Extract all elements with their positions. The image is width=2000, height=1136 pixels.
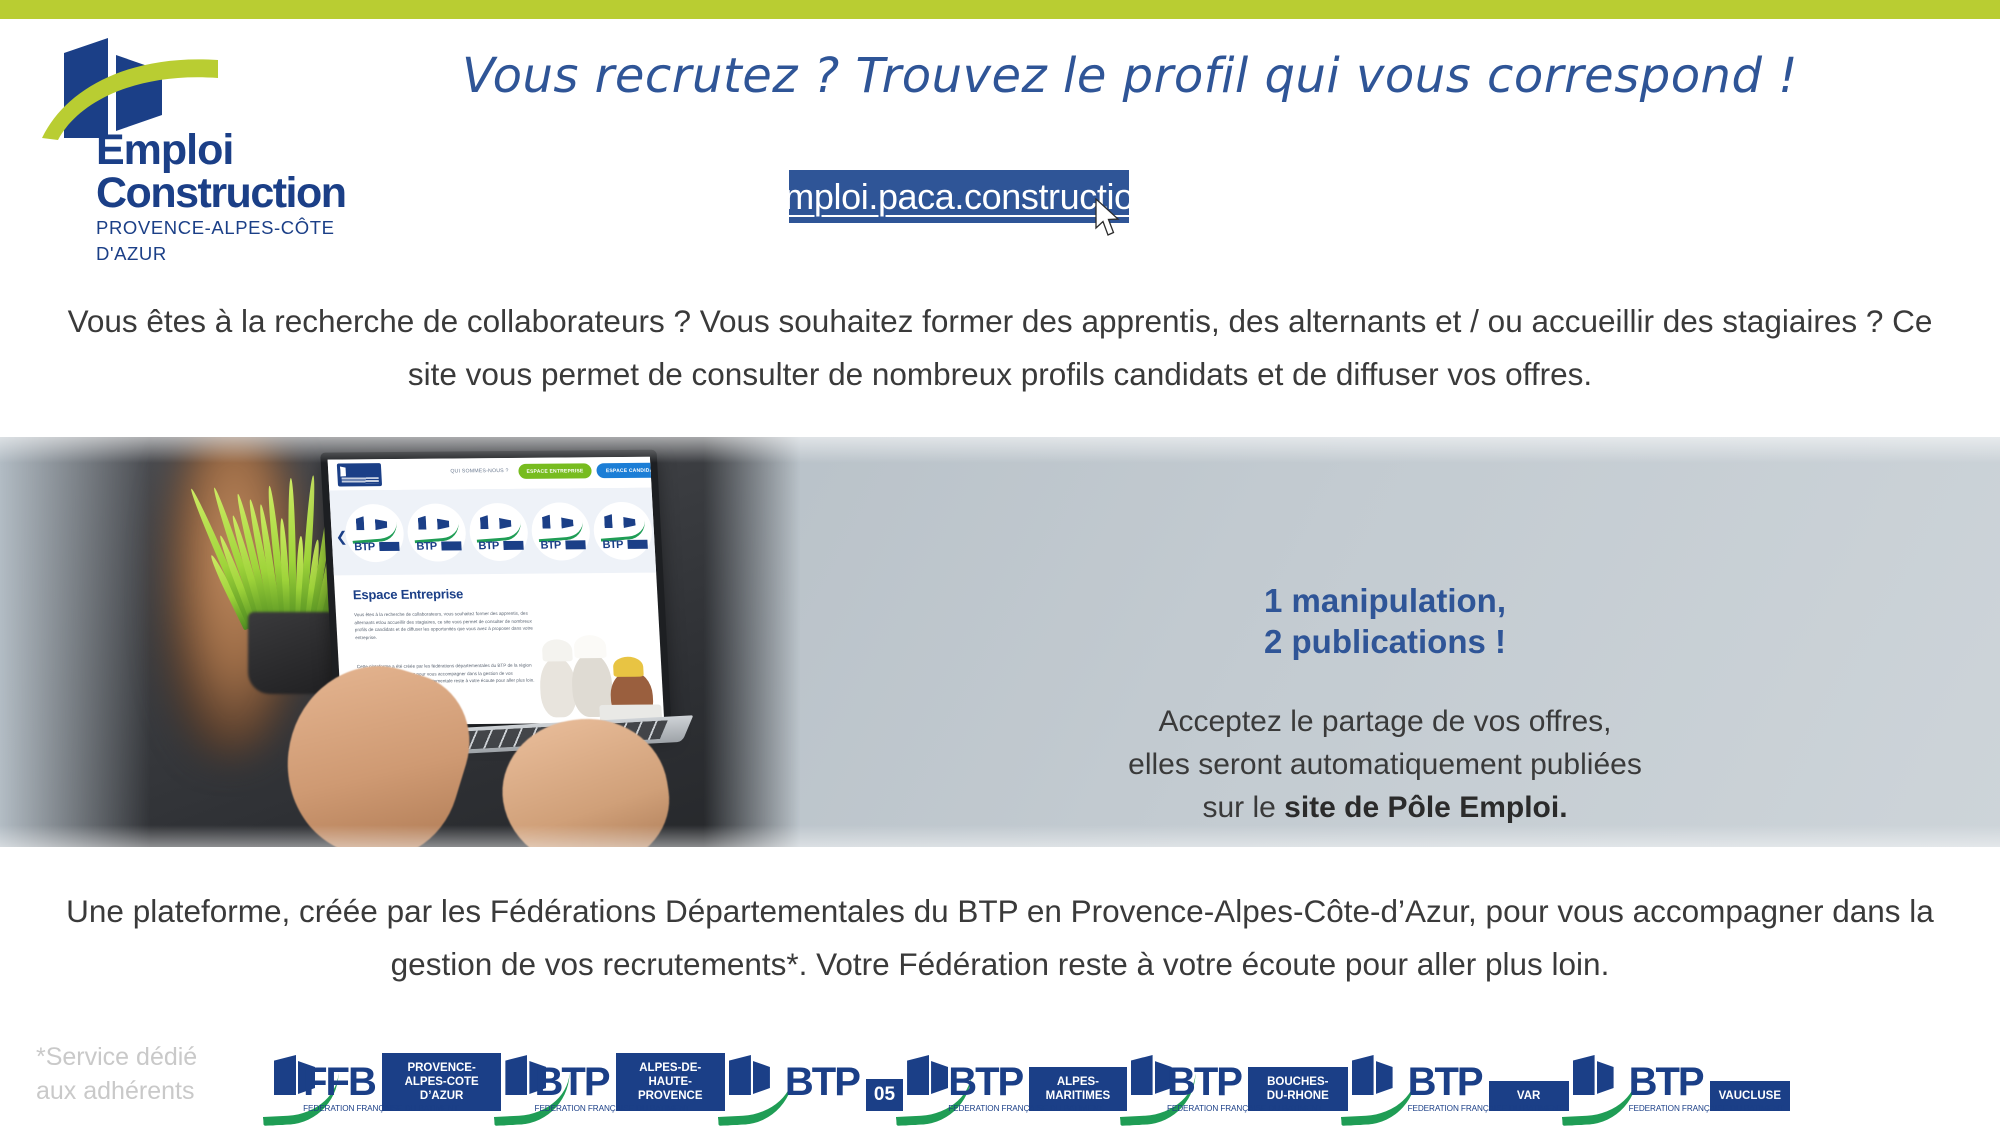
- plant-blade: [217, 534, 260, 630]
- federation-logo-subtitle: FEDERATION FRANÇAISE DU BATIMENT: [948, 1104, 1103, 1113]
- screen-paragraph-1: Vous êtes à la recherche de collaborateu…: [354, 610, 536, 642]
- screen-heading: Espace Entreprise: [353, 586, 464, 602]
- federation-logo-word: BTP: [1167, 1065, 1241, 1099]
- desk-background: [0, 437, 800, 847]
- mouse-pointer-icon: [1095, 198, 1121, 236]
- body-line-3-prefix: sur le: [1202, 791, 1284, 824]
- btp-building-swoosh-icon: [1348, 1049, 1406, 1111]
- carousel-logo-item[interactable]: BTP: [344, 504, 405, 562]
- laptop-lid: QUI SOMMES-NOUS ? ESPACE ENTREPRISE ESPA…: [320, 450, 672, 736]
- plant-blade: [322, 509, 364, 630]
- plant-blade: [341, 495, 413, 630]
- plant-blade: [208, 554, 250, 631]
- potted-plant-leaves: [236, 469, 352, 629]
- federation-logo-subtitle: FEDERATION FRANÇAISE DU BATIMENT: [303, 1104, 458, 1113]
- plant-blade: [230, 515, 269, 630]
- plant-blade: [308, 478, 339, 629]
- carousel-next-icon[interactable]: ❯: [638, 526, 651, 543]
- brand-name-line2: Construction: [96, 171, 396, 215]
- laptop-keyboard: [350, 720, 667, 755]
- federation-logo: BTPFEDERATION FRANÇAISE DU BATIMENTBOUCH…: [1127, 1039, 1348, 1111]
- plant-blade: [299, 475, 317, 629]
- screen-people-photo: [511, 631, 664, 724]
- service-note: *Service dédié aux adhérents: [36, 1040, 266, 1108]
- service-note-line1: *Service dédié: [36, 1040, 266, 1074]
- outro-paragraph: Une plateforme, créée par les Fédération…: [40, 885, 1960, 991]
- federation-logo: BTPFEDERATION FRANÇAISE DU BATIMENTVAR: [1348, 1039, 1569, 1111]
- federation-logo-subtitle: FEDERATION FRANÇAISE DU BATIMENT: [1629, 1104, 1784, 1113]
- plant-blade: [304, 539, 321, 629]
- federation-logo-region-tag: PROVENCE-ALPES-COTE D’AZUR: [382, 1053, 501, 1111]
- body-line-3: sur le site de Pôle Emploi.: [1010, 786, 1760, 829]
- screen-logo-carousel[interactable]: ❮ ❯ BTPBTPBTPBTPBTP: [329, 488, 656, 576]
- plant-blade: [336, 518, 391, 631]
- body-line-3-bold: site de Pôle Emploi.: [1284, 791, 1567, 824]
- btp-building-swoosh-icon: [1127, 1049, 1165, 1111]
- screen-btn-espace-candidat[interactable]: ESPACE CANDIDAT: [596, 463, 664, 479]
- page-headline: Vous recrutez ? Trouvez le profil qui vo…: [420, 48, 1840, 104]
- plant-blade: [266, 486, 288, 630]
- carousel-prev-icon[interactable]: ❮: [335, 528, 348, 545]
- plant-blade: [246, 498, 278, 629]
- blurred-person: [165, 437, 305, 757]
- screen-brand-logo-icon: [337, 463, 382, 486]
- plant-blade: [235, 493, 274, 630]
- federation-logo: BTP05: [725, 1039, 903, 1111]
- carousel-logo-item[interactable]: BTP: [406, 503, 467, 561]
- plant-pot: [248, 612, 334, 694]
- federation-logo-word: BTP: [535, 1065, 609, 1099]
- federation-logo-subtitle: FEDERATION FRANÇAISE DU BATIMENT: [1167, 1104, 1322, 1113]
- btp-building-swoosh-icon: [270, 1049, 301, 1111]
- federation-logo-subtitle: FEDERATION FRANÇAISE DU BATIMENT: [1408, 1104, 1563, 1113]
- federation-logo-word: BTP: [1408, 1065, 1482, 1099]
- highlight-line-1: 1 manipulation,: [1010, 580, 1760, 621]
- le-plus-highlight: 1 manipulation, 2 publications !: [1010, 580, 1760, 662]
- btp-building-swoosh-icon: [903, 1049, 946, 1111]
- plant-blade: [318, 487, 360, 630]
- screen-paragraph-2: Cette plateforme a été créée par les féd…: [357, 662, 538, 686]
- plant-blade: [327, 501, 377, 630]
- plant-blade: [313, 523, 341, 630]
- brand-region: PROVENCE-ALPES-CÔTE D'AZUR: [96, 215, 396, 267]
- btp-building-swoosh-icon: [725, 1049, 783, 1111]
- federation-logo-region-tag: ALPES-DE-HAUTE-PROVENCE: [616, 1053, 725, 1111]
- le-plus-body: Acceptez le partage de vos offres, elles…: [1010, 700, 1760, 829]
- btp-building-swoosh-icon: [1569, 1049, 1627, 1111]
- plant-blade: [211, 487, 265, 630]
- brand-name-line1: Emploi: [96, 130, 396, 171]
- plant-blade: [295, 536, 304, 629]
- federation-logo-word: BTP: [1629, 1065, 1703, 1099]
- screen-nav-link[interactable]: QUI SOMMES-NOUS ?: [450, 468, 509, 474]
- plant-blade: [188, 487, 256, 630]
- body-line-2: elles seront automatiquement publiées: [1010, 743, 1760, 786]
- brand-logo: Emploi Construction PROVENCE-ALPES-CÔTE …: [18, 30, 388, 220]
- intro-paragraph: Vous êtes à la recherche de collaborateu…: [40, 295, 1960, 401]
- carousel-logo-item[interactable]: BTP: [530, 502, 591, 560]
- federation-logo-subtitle: FEDERATION FRANÇAISE DU BATIMENT: [535, 1104, 690, 1113]
- laptop-base: [333, 715, 694, 761]
- plant-blade: [332, 500, 389, 631]
- federation-logo: BTPFEDERATION FRANÇAISE DU BATIMENTALPES…: [501, 1039, 725, 1111]
- laptop-device: QUI SOMMES-NOUS ? ESPACE ENTREPRISE ESPA…: [328, 451, 688, 847]
- hero-photo-band: QUI SOMMES-NOUS ? ESPACE ENTREPRISE ESPA…: [0, 437, 2000, 847]
- federation-logo-word: BTP: [785, 1065, 859, 1099]
- laptop-photo: QUI SOMMES-NOUS ? ESPACE ENTREPRISE ESPA…: [0, 437, 800, 847]
- plant-blade: [287, 478, 297, 629]
- federation-logo: FFBFEDERATION FRANÇAISE DU BATIMENTPROVE…: [270, 1039, 501, 1111]
- highlight-line-2: 2 publications !: [1010, 621, 1760, 662]
- federation-logo-word: BTP: [948, 1065, 1022, 1099]
- federation-logo-word: FFB: [303, 1065, 375, 1099]
- building-swoosh-logo-icon: [40, 30, 240, 140]
- federation-logo: BTPFEDERATION FRANÇAISE DU BATIMENTALPES…: [903, 1039, 1127, 1111]
- btp-building-swoosh-icon: [501, 1049, 532, 1111]
- plant-blade: [258, 503, 284, 629]
- service-note-line2: aux adhérents: [36, 1074, 266, 1108]
- top-accent-bar: [0, 0, 2000, 19]
- body-line-1: Acceptez le partage de vos offres,: [1010, 700, 1760, 743]
- laptop-screen: QUI SOMMES-NOUS ? ESPACE ENTREPRISE ESPA…: [328, 457, 665, 725]
- hand-right: [492, 707, 678, 847]
- plant-blade: [279, 518, 293, 629]
- carousel-logo-item[interactable]: BTP: [592, 502, 653, 560]
- footer-federation-logos: FFBFEDERATION FRANÇAISE DU BATIMENTPROVE…: [270, 1030, 1790, 1120]
- website-url-button[interactable]: emploi.paca.construction: [789, 170, 1129, 223]
- screen-btn-espace-entreprise[interactable]: ESPACE ENTREPRISE: [518, 463, 592, 479]
- hand-left: [264, 645, 487, 847]
- carousel-logo-item[interactable]: BTP: [468, 503, 529, 561]
- federation-logo: BTPFEDERATION FRANÇAISE DU BATIMENTVAUCL…: [1569, 1039, 1790, 1111]
- screen-navbar: QUI SOMMES-NOUS ? ESPACE ENTREPRISE ESPA…: [328, 457, 652, 492]
